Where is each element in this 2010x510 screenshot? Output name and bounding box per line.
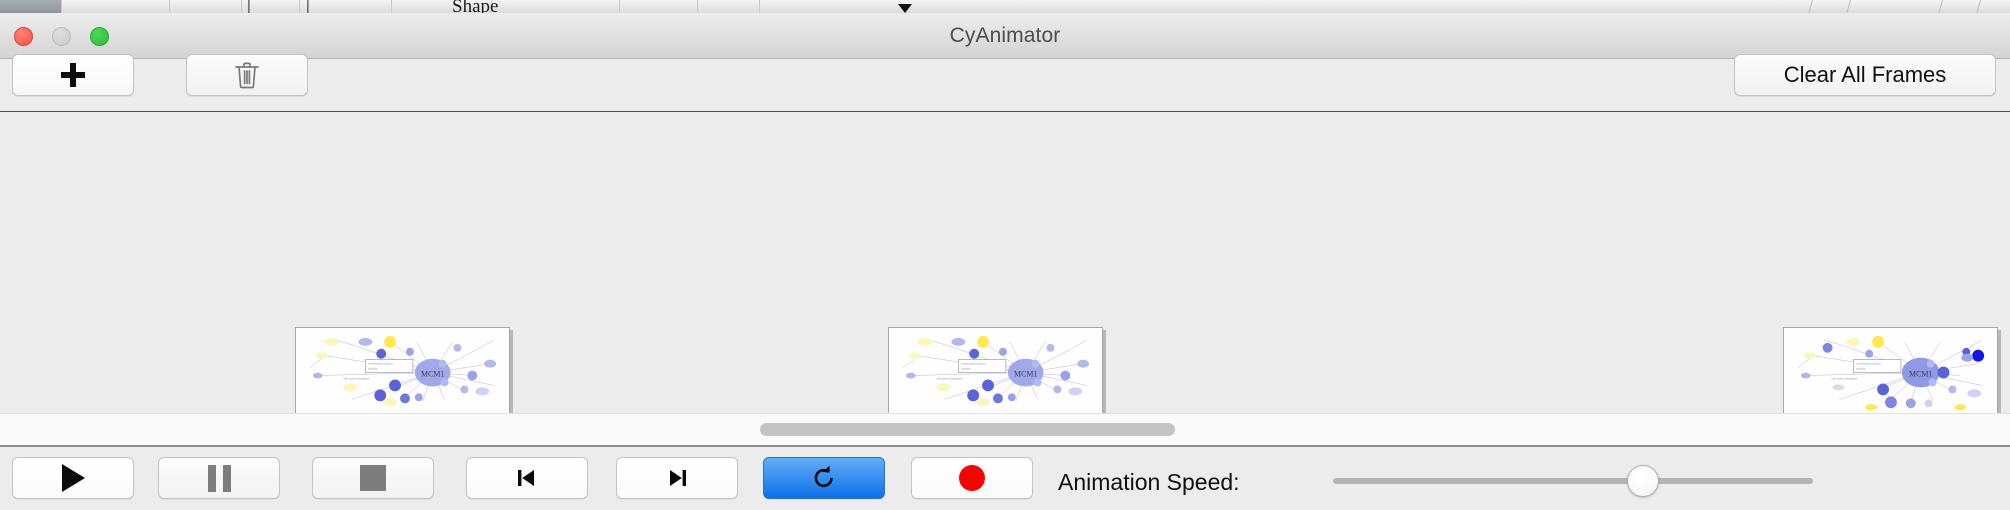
svg-text:MCM1: MCM1 bbox=[1014, 370, 1037, 379]
animation-speed-slider-track[interactable] bbox=[1333, 478, 1813, 484]
svg-text:activity: activity bbox=[368, 367, 378, 371]
plus-icon bbox=[61, 63, 85, 87]
background-caret-icon bbox=[898, 4, 912, 13]
skip-forward-icon bbox=[663, 464, 691, 492]
titlebar: CyAnimator bbox=[0, 13, 2010, 59]
background-window-strip: | | Shape bbox=[0, 0, 2010, 14]
svg-text:cell cycle regulation: cell cycle regulation bbox=[937, 377, 963, 381]
clear-all-frames-label: Clear All Frames bbox=[1784, 62, 1947, 88]
background-toolbar-glyph-1: | bbox=[247, 0, 251, 14]
timeline-panel[interactable]: MCM1 bbox=[0, 113, 2010, 413]
play-button[interactable] bbox=[12, 457, 134, 499]
cyanimator-window: | | Shape CyAnimator Clear All Frames bbox=[0, 0, 2010, 510]
pause-button[interactable] bbox=[158, 457, 280, 499]
record-button[interactable] bbox=[911, 457, 1033, 499]
svg-text:MCM1: MCM1 bbox=[1909, 370, 1932, 379]
network-thumbnail: MCM1 bbox=[1784, 328, 1997, 413]
pause-icon bbox=[208, 465, 231, 492]
add-frame-button[interactable] bbox=[12, 54, 134, 96]
last-frame-button[interactable] bbox=[616, 457, 738, 499]
network-thumbnail: MCM1 bbox=[889, 328, 1102, 413]
svg-text:activity: activity bbox=[961, 367, 971, 371]
animation-speed-slider-thumb[interactable] bbox=[1627, 465, 1659, 497]
animation-speed-label: Animation Speed: bbox=[1058, 469, 1240, 496]
network-thumbnail: MCM1 bbox=[296, 328, 509, 413]
scrollbar-thumb[interactable] bbox=[760, 423, 1175, 436]
svg-text:activity: activity bbox=[1856, 367, 1866, 371]
first-frame-button[interactable] bbox=[466, 457, 588, 499]
svg-text:cell cycle regulation: cell cycle regulation bbox=[1832, 377, 1858, 381]
delete-frame-button[interactable] bbox=[186, 54, 308, 96]
trash-icon bbox=[234, 61, 260, 89]
timeline-frame[interactable]: MCM1 bbox=[295, 327, 510, 413]
stop-icon bbox=[360, 465, 386, 491]
loop-icon bbox=[809, 463, 839, 493]
timeline-horizontal-scrollbar[interactable] bbox=[0, 413, 2010, 447]
svg-text:transcription factor: transcription factor bbox=[1856, 362, 1880, 366]
background-toolbar-glyph-2: | bbox=[306, 0, 310, 14]
play-icon bbox=[62, 464, 85, 492]
background-window-label: Shape bbox=[452, 0, 498, 14]
svg-text:transcription factor: transcription factor bbox=[961, 362, 985, 366]
record-icon bbox=[959, 465, 985, 491]
clear-all-frames-button[interactable]: Clear All Frames bbox=[1734, 54, 1996, 96]
timeline-frame[interactable]: MCM1 bbox=[888, 327, 1103, 413]
svg-text:MCM1: MCM1 bbox=[421, 370, 444, 379]
svg-text:transcription factor: transcription factor bbox=[368, 362, 392, 366]
loop-button[interactable] bbox=[763, 457, 885, 499]
stop-button[interactable] bbox=[312, 457, 434, 499]
svg-text:cell cycle regulation: cell cycle regulation bbox=[344, 377, 370, 381]
window-title: CyAnimator bbox=[0, 24, 2010, 48]
skip-back-icon bbox=[513, 464, 541, 492]
timeline-frame[interactable]: MCM1 bbox=[1783, 327, 1998, 413]
